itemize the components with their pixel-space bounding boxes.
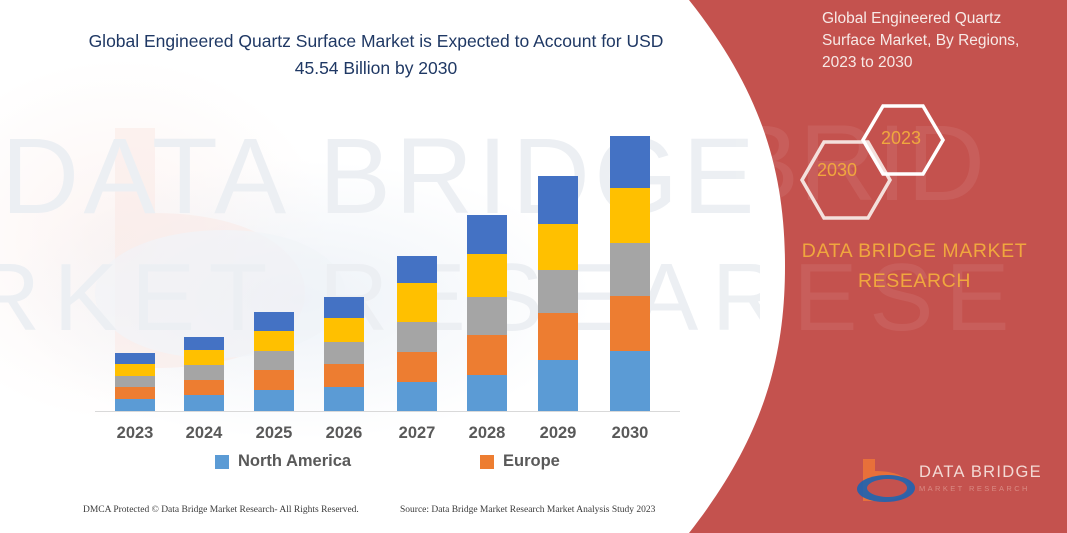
bar-segment-europe — [538, 313, 578, 360]
bar-segment-series-4 — [184, 350, 224, 365]
bar-2028 — [467, 215, 507, 411]
bar-segment-europe — [115, 387, 155, 399]
legend-swatch-icon — [480, 455, 494, 469]
bar-segment-series-3 — [254, 351, 294, 370]
bar-segment-series-4 — [610, 188, 650, 243]
bar-segment-north-america — [115, 399, 155, 411]
bar-2023 — [115, 353, 155, 411]
bar-segment-series-4 — [254, 331, 294, 351]
bar-segment-north-america — [610, 351, 650, 411]
bar-segment-europe — [467, 335, 507, 375]
bar-segment-series-4 — [324, 318, 364, 342]
bar-segment-north-america — [184, 395, 224, 411]
legend-label: Europe — [503, 452, 560, 471]
footer-source: Source: Data Bridge Market Research Mark… — [400, 505, 655, 515]
hexagon-2030-label: 2030 — [817, 160, 857, 181]
bar-segment-series-3 — [115, 376, 155, 387]
legend-item-north-america[interactable]: North America — [215, 452, 351, 471]
logo-mark-icon — [857, 455, 917, 507]
bar-segment-series-3 — [184, 365, 224, 380]
bar-segment-europe — [184, 380, 224, 395]
chart-title: Global Engineered Quartz Surface Market … — [70, 28, 682, 82]
bar-segment-series-3 — [324, 342, 364, 364]
x-label-2024: 2024 — [169, 424, 239, 443]
bar-segment-north-america — [324, 387, 364, 411]
bar-segment-north-america — [467, 375, 507, 411]
bar-segment-series-5 — [115, 353, 155, 364]
company-logo: DATA BRIDGE MARKET RESEARCH — [857, 455, 1057, 513]
bar-2025 — [254, 312, 294, 411]
legend-swatch-icon — [215, 455, 229, 469]
bar-segment-series-5 — [610, 136, 650, 188]
bar-segment-series-4 — [467, 254, 507, 297]
bar-segment-series-3 — [397, 322, 437, 352]
bar-segment-series-5 — [324, 297, 364, 318]
bar-segment-north-america — [538, 360, 578, 411]
bar-segment-north-america — [397, 382, 437, 411]
bar-segment-europe — [254, 370, 294, 390]
bar-segment-series-5 — [184, 337, 224, 350]
logo-subtitle: MARKET RESEARCH — [919, 484, 1042, 493]
x-label-2025: 2025 — [239, 424, 309, 443]
bar-segment-north-america — [254, 390, 294, 411]
x-axis-labels: 20232024202520262027202820292030 — [95, 424, 695, 450]
bar-segment-series-4 — [397, 283, 437, 322]
chart-plot-area — [95, 110, 695, 412]
x-label-2026: 2026 — [309, 424, 379, 443]
bar-segment-series-5 — [254, 312, 294, 331]
x-axis-line — [95, 411, 680, 412]
brand-line2: RESEARCH — [858, 270, 971, 292]
infographic-stage: DATA BRIDGE MARKET RESEARCH Global Engin… — [0, 0, 1067, 533]
brand-line1: DATA BRIDGE MARKET — [802, 240, 1027, 262]
x-label-2030: 2030 — [595, 424, 665, 443]
x-label-2028: 2028 — [452, 424, 522, 443]
x-label-2027: 2027 — [382, 424, 452, 443]
bar-segment-series-4 — [538, 224, 578, 270]
legend-item-europe[interactable]: Europe — [480, 452, 560, 471]
bar-2026 — [324, 297, 364, 411]
logo-text: DATA BRIDGE MARKET RESEARCH — [919, 463, 1042, 493]
chart-legend: North AmericaEurope — [95, 452, 695, 482]
legend-label: North America — [238, 452, 351, 471]
bar-segment-series-3 — [467, 297, 507, 335]
bar-segment-europe — [610, 296, 650, 351]
bar-segment-europe — [324, 364, 364, 387]
bar-segment-series-5 — [467, 215, 507, 254]
panel-title: Global Engineered Quartz Surface Market,… — [822, 8, 1054, 74]
bar-segment-series-3 — [610, 243, 650, 296]
bar-2030 — [610, 136, 650, 411]
bar-segment-series-5 — [397, 256, 437, 283]
bar-segment-series-4 — [115, 364, 155, 376]
footer: DMCA Protected © Data Bridge Market Rese… — [0, 505, 710, 527]
bar-segment-europe — [397, 352, 437, 382]
bar-2029 — [538, 176, 578, 411]
bar-segment-series-3 — [538, 270, 578, 313]
x-label-2023: 2023 — [100, 424, 170, 443]
bar-2027 — [397, 256, 437, 411]
brand-panel: BRID RESE Global Engineered Quartz Surfa… — [667, 0, 1067, 533]
bar-segment-series-5 — [538, 176, 578, 224]
x-label-2029: 2029 — [523, 424, 593, 443]
bar-2024 — [184, 337, 224, 411]
logo-name: DATA BRIDGE — [919, 463, 1042, 481]
brand-name: DATA BRIDGE MARKET RESEARCH — [772, 236, 1057, 296]
hexagon-2023-label: 2023 — [881, 128, 921, 149]
footer-copyright: DMCA Protected © Data Bridge Market Rese… — [83, 505, 359, 515]
